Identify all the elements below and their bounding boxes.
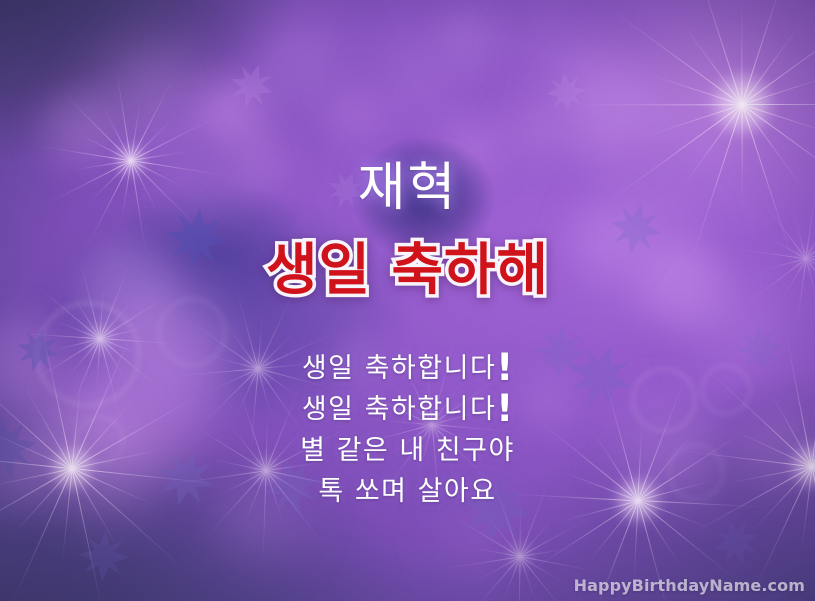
card-text-layer: 재혁 생일 축하해 생일 축하합니다!생일 축하합니다!별 같은 내 친구야톡 … (0, 0, 815, 601)
birthday-card: 재혁 생일 축하해 생일 축하합니다!생일 축하합니다!별 같은 내 친구야톡 … (0, 0, 815, 601)
message-line-text: 별 같은 내 친구야 (300, 435, 515, 466)
message-line-exclamation: ! (496, 346, 513, 389)
message-line: 톡 쏘며 살아요 (0, 471, 815, 512)
message-line-text: 톡 쏘며 살아요 (318, 476, 496, 507)
message-line-exclamation: ! (496, 387, 513, 430)
message-line-text: 생일 축하합니다 (302, 353, 496, 384)
headline-greeting: 생일 축하해 (0, 240, 815, 303)
message-block: 생일 축하합니다!생일 축하합니다!별 같은 내 친구야톡 쏘며 살아요 (0, 348, 815, 512)
watermark: HappyBirthdayName.com (574, 576, 805, 595)
message-line: 별 같은 내 친구야 (0, 430, 815, 471)
message-line: 생일 축하합니다! (0, 389, 815, 430)
message-line: 생일 축하합니다! (0, 348, 815, 389)
message-line-text: 생일 축하합니다 (302, 394, 496, 425)
recipient-name: 재혁 (0, 160, 815, 217)
